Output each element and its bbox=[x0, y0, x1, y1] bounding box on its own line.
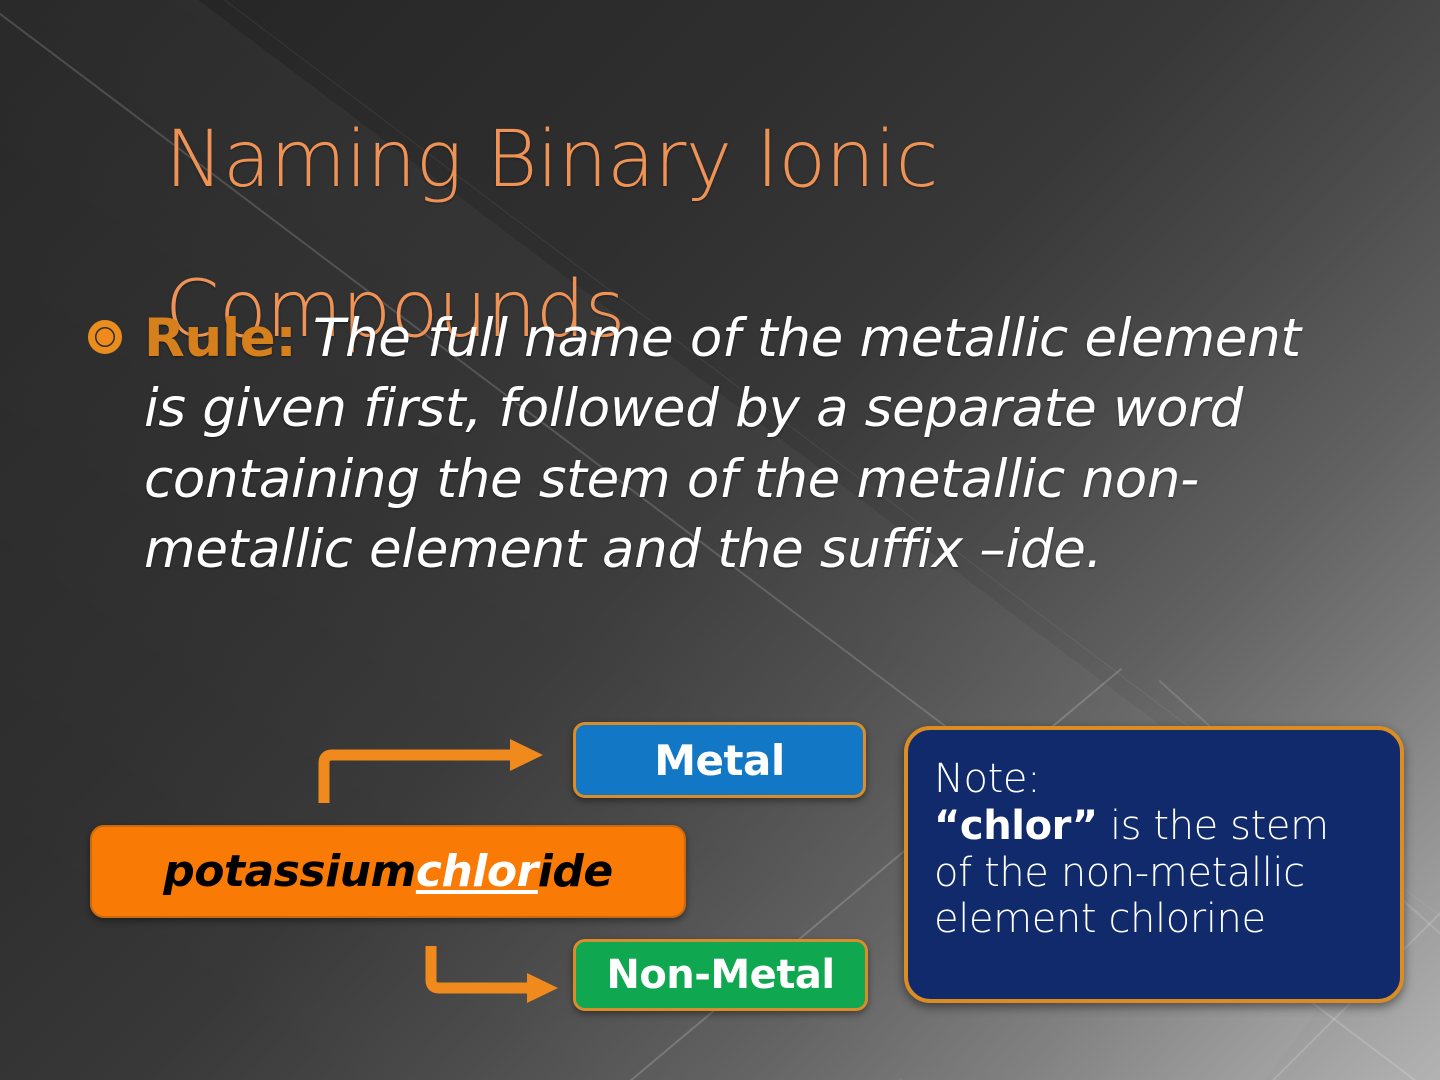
arrow-elbow-to-nonmetal-icon bbox=[425, 932, 565, 1002]
rule-label: Rule: bbox=[144, 308, 296, 369]
note-quoted-stem: “chlor” bbox=[934, 803, 1098, 849]
note-callout-box: Note: “chlor” is the stem of the non-met… bbox=[904, 726, 1404, 1003]
bullet-list-item: Rule: The full name of the metallic elem… bbox=[88, 304, 1318, 586]
nonmetal-label-text: Non-Metal bbox=[606, 952, 834, 998]
compound-suffix-text: ide bbox=[538, 846, 613, 897]
arrow-elbow-to-metal-icon bbox=[318, 745, 553, 807]
metal-label-box: Metal bbox=[573, 722, 866, 798]
note-body: “chlor” is the stem of the non-metallic … bbox=[934, 803, 1374, 943]
slide-title-line-1: Naming Binary Ionic bbox=[165, 123, 1215, 198]
slide-canvas: Naming Binary Ionic Compounds Rule: The … bbox=[0, 0, 1440, 1080]
target-bullet-icon bbox=[88, 320, 122, 354]
note-heading: Note: bbox=[934, 756, 1374, 803]
nonmetal-label-box: Non-Metal bbox=[573, 939, 868, 1011]
rule-paragraph: Rule: The full name of the metallic elem… bbox=[144, 304, 1318, 586]
compound-stem-text: chlor bbox=[416, 846, 538, 897]
metal-label-text: Metal bbox=[654, 736, 785, 785]
compound-prefix-text: potassium bbox=[163, 846, 416, 897]
compound-name-box: potassium chloride bbox=[90, 825, 686, 918]
rule-body-text: The full name of the metallic element is… bbox=[144, 308, 1301, 580]
